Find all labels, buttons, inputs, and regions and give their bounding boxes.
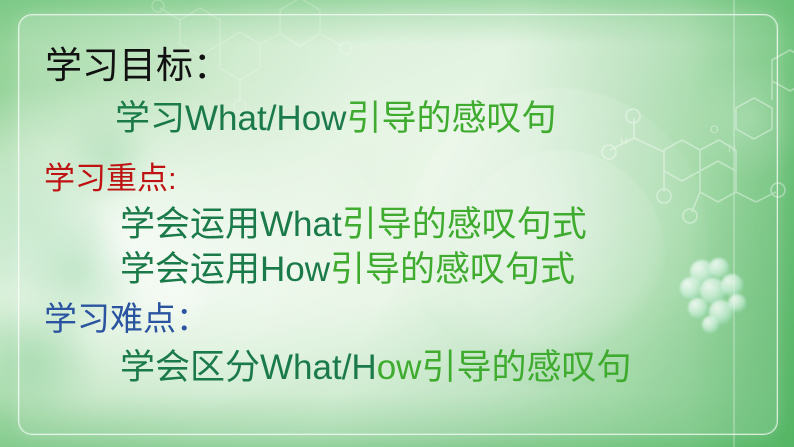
learning-goal-item-keyword: What/How bbox=[185, 99, 346, 138]
difficult-points-item-tail: ow引导的感叹句 bbox=[377, 348, 632, 387]
learning-goal-heading: 学习目标： bbox=[45, 47, 230, 84]
key-points-heading: 学习重点: bbox=[44, 163, 177, 194]
key-points-item-what-primary: 学会运用What bbox=[120, 205, 342, 244]
key-points-item-how: 学会运用How引导的感叹句式 bbox=[120, 252, 575, 287]
learning-goal-item: 学习What/How引导的感叹句 bbox=[115, 101, 556, 136]
key-points-item-how-primary: 学会运用How bbox=[120, 250, 330, 289]
difficult-points-heading: 学习难点： bbox=[44, 302, 209, 335]
slide-text-content: 学习目标： 学习What/How引导的感叹句 学习重点: 学会运用What引导的… bbox=[0, 0, 794, 447]
slide-canvas: H O N 学习目标： 学习What/How引导的感叹句 学习重点: 学会运 bbox=[0, 0, 794, 447]
learning-goal-item-tail: 引导的感叹句 bbox=[346, 99, 556, 138]
difficult-points-item-primary: 学会区分What/H bbox=[120, 348, 377, 387]
key-points-item-what: 学会运用What引导的感叹句式 bbox=[120, 207, 587, 242]
key-points-item-what-tail: 引导的感叹句式 bbox=[342, 205, 587, 244]
difficult-points-item: 学会区分What/How引导的感叹句 bbox=[120, 350, 631, 385]
key-points-item-how-tail: 引导的感叹句式 bbox=[330, 250, 575, 289]
learning-goal-item-primary: 学习 bbox=[115, 99, 185, 138]
